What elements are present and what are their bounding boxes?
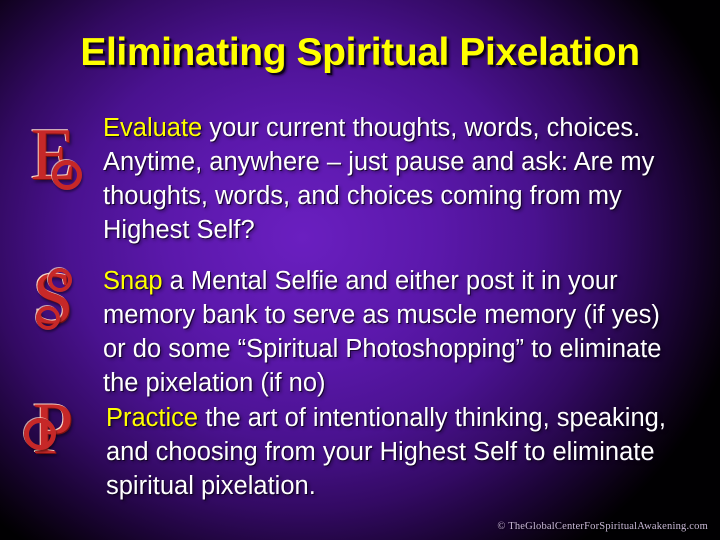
paragraph-lead-word: Snap [103, 267, 163, 295]
dropcap-letter-s: S [14, 262, 92, 336]
paragraph-lead-word: Evaluate [103, 114, 202, 142]
dropcap-letter-e: E [14, 118, 92, 192]
slide-title-bar: Eliminating Spiritual Pixelation [0, 33, 720, 74]
body-paragraph-snap: Snap a Mental Selfie and either post it … [103, 264, 689, 400]
spiral-flourish-bottom-icon [36, 306, 60, 330]
body-paragraph-evaluate: Evaluate your current thoughts, words, c… [103, 111, 689, 247]
dropcap-letter-p: P [14, 392, 92, 466]
paragraph-lead-word: Practice [106, 404, 198, 432]
page-title: Eliminating Spiritual Pixelation [80, 33, 639, 74]
spiral-flourish-icon [52, 160, 82, 190]
body-paragraph-practice: Practice the art of intentionally thinki… [106, 401, 686, 503]
presentation-slide: Eliminating Spiritual Pixelation E S P E… [0, 0, 720, 540]
paragraph-body-text: a Mental Selfie and either post it in yo… [103, 267, 661, 397]
copyright-footer: © TheGlobalCenterForSpiritualAwakening.c… [497, 521, 708, 532]
